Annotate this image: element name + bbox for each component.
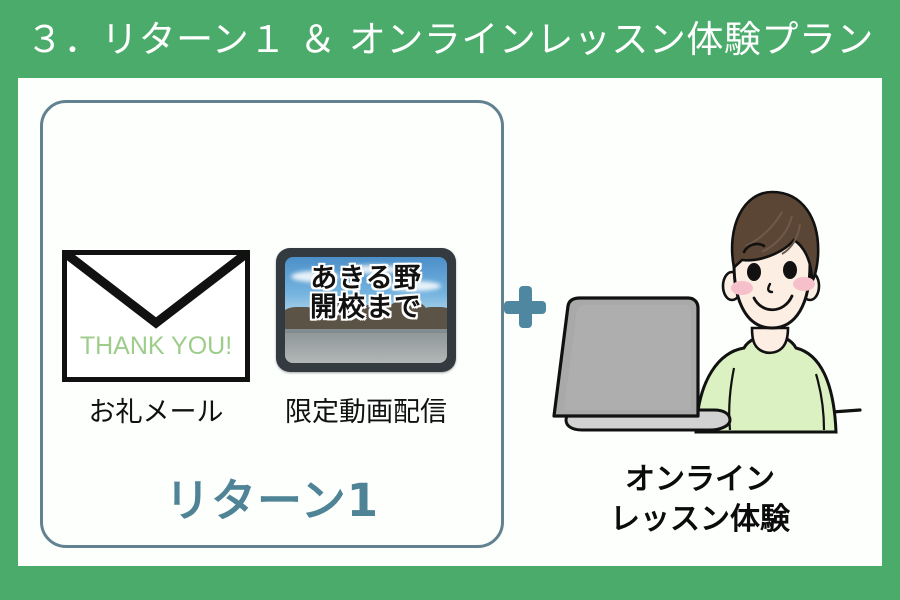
- envelope-thank-you-text: THANK YOU!: [62, 332, 250, 361]
- ground-shape: [285, 333, 447, 363]
- caption-thank-you-mail: お礼メール: [56, 390, 256, 429]
- tablet-text-line-2: 開校まで: [285, 294, 447, 323]
- online-lesson-label-line-1: オンライン: [518, 460, 882, 500]
- slide-title-bar: ３．リターン１ ＆ オンラインレッスン体験プラン: [0, 0, 900, 78]
- person-at-laptop-icon: [548, 182, 868, 462]
- plus-icon: [504, 286, 546, 328]
- content-panel: THANK YOU! あきる野 開校まで お礼メール 限定動画配: [18, 78, 882, 566]
- tablet-screen-text: あきる野 開校まで: [285, 265, 447, 322]
- envelope-icon: THANK YOU!: [62, 250, 250, 382]
- return-1-label: リターン1: [40, 464, 504, 529]
- online-lesson-label: オンライン レッスン体験: [518, 460, 882, 539]
- caption-limited-video: 限定動画配信: [266, 390, 466, 429]
- plus-vertical-bar: [519, 286, 532, 328]
- person-at-laptop-svg: [548, 182, 868, 462]
- tablet-screen: あきる野 開校まで: [285, 257, 447, 363]
- envelope-flap: [62, 250, 250, 340]
- slide-canvas: ３．リターン１ ＆ オンラインレッスン体験プラン THANK YOU!: [0, 0, 900, 600]
- envelope-flap-svg: [62, 250, 250, 340]
- page-title: ３．リターン１ ＆ オンラインレッスン体験プラン: [26, 21, 874, 58]
- online-lesson-label-line-2: レッスン体験: [518, 500, 882, 540]
- tablet-icon: あきる野 開校まで: [276, 248, 456, 372]
- tablet-text-line-1: あきる野: [285, 265, 447, 294]
